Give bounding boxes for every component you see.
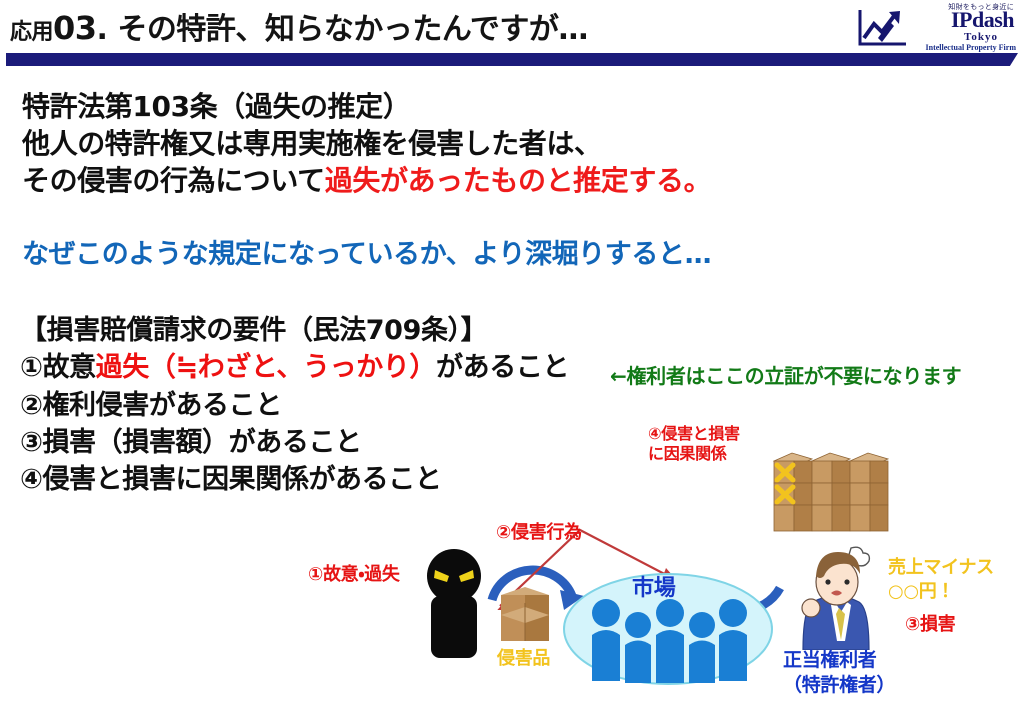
diagram-label-causation: ④侵害と損害 に因果関係: [648, 424, 740, 465]
diagram-label-infringing-goods: 侵害品: [497, 644, 550, 670]
requirement-1-black-a: ①故意: [20, 352, 96, 383]
law-line-3: その侵害の行為について過失があったものと推定する。: [22, 162, 711, 199]
page-title-number: 03: [53, 9, 97, 47]
law-text-block: 特許法第103条（過失の推定） 他人の特許権又は専用実施権を侵害した者は、 その…: [22, 88, 711, 200]
page-title: 応用03. その特許、知らなかったんですが…: [10, 4, 588, 48]
diagram-label-infringing-act: ②侵害行為: [496, 518, 582, 544]
diagram-label-market: 市場: [632, 570, 675, 602]
cardboard-boxes-icon: [495, 583, 555, 645]
diagram-label-sales-minus-line2: ○○円！: [888, 580, 994, 604]
logo[interactable]: 知財をもっと身近に IPdash Tokyo Intellectual Prop…: [856, 2, 1016, 50]
diagram-label-damage: ③損害: [905, 610, 955, 636]
requirement-1-red: 過失（≒わざと、うっかり）: [96, 352, 436, 383]
diagram-label-rightholder-line2: （特許権者）: [783, 673, 895, 698]
page-title-rest: . その特許、知らなかったんですが…: [97, 12, 588, 47]
businessman-angry-icon: [795, 546, 887, 650]
stacked-boxes-with-x-icon: [772, 449, 890, 537]
diagram-label-rightholder: 正当権利者 （特許権者）: [783, 648, 895, 697]
requirements-heading: 【損害賠償請求の要件（民法709条）】: [20, 312, 569, 349]
page-title-prefix: 応用: [10, 20, 53, 45]
law-line-1: 特許法第103条（過失の推定）: [22, 88, 711, 125]
header-divider-bar: [6, 53, 1018, 66]
diagram-label-causation-line1: ④侵害と損害: [648, 424, 740, 444]
requirement-1-black-b: があること: [436, 352, 569, 383]
diagram-label-rightholder-line1: 正当権利者: [783, 648, 895, 673]
law-line-2: 他人の特許権又は専用実施権を侵害した者は、: [22, 125, 711, 162]
diagram-label-sales-minus: 売上マイナス ○○円！: [888, 556, 994, 605]
diagram-label-intent: ①故意・過失: [308, 560, 400, 586]
question-line: なぜこのような規定になっているか、より深堀りすると…: [22, 239, 711, 271]
slide-canvas: 応用03. その特許、知らなかったんですが… 知財をもっと身近に IPdash …: [0, 0, 1024, 709]
chart-arrow-icon: [856, 8, 908, 48]
annotation-no-proof-needed: ←権利者はここの立証が不要になります: [610, 360, 961, 389]
diagram-label-causation-line2: に因果関係: [648, 444, 740, 464]
logo-subtitle: Intellectual Property Firm: [926, 43, 1017, 52]
black-silhouette-villain-icon: [417, 548, 491, 658]
logo-city: Tokyo: [964, 31, 998, 43]
law-line-3-black: その侵害の行為について: [22, 164, 325, 197]
diagram-label-sales-minus-line1: 売上マイナス: [888, 556, 994, 580]
logo-name: IPdash: [951, 9, 1014, 31]
requirement-item-1: ①故意過失（≒わざと、うっかり）があること: [20, 349, 569, 386]
law-line-3-red: 過失があったものと推定する。: [325, 164, 711, 197]
